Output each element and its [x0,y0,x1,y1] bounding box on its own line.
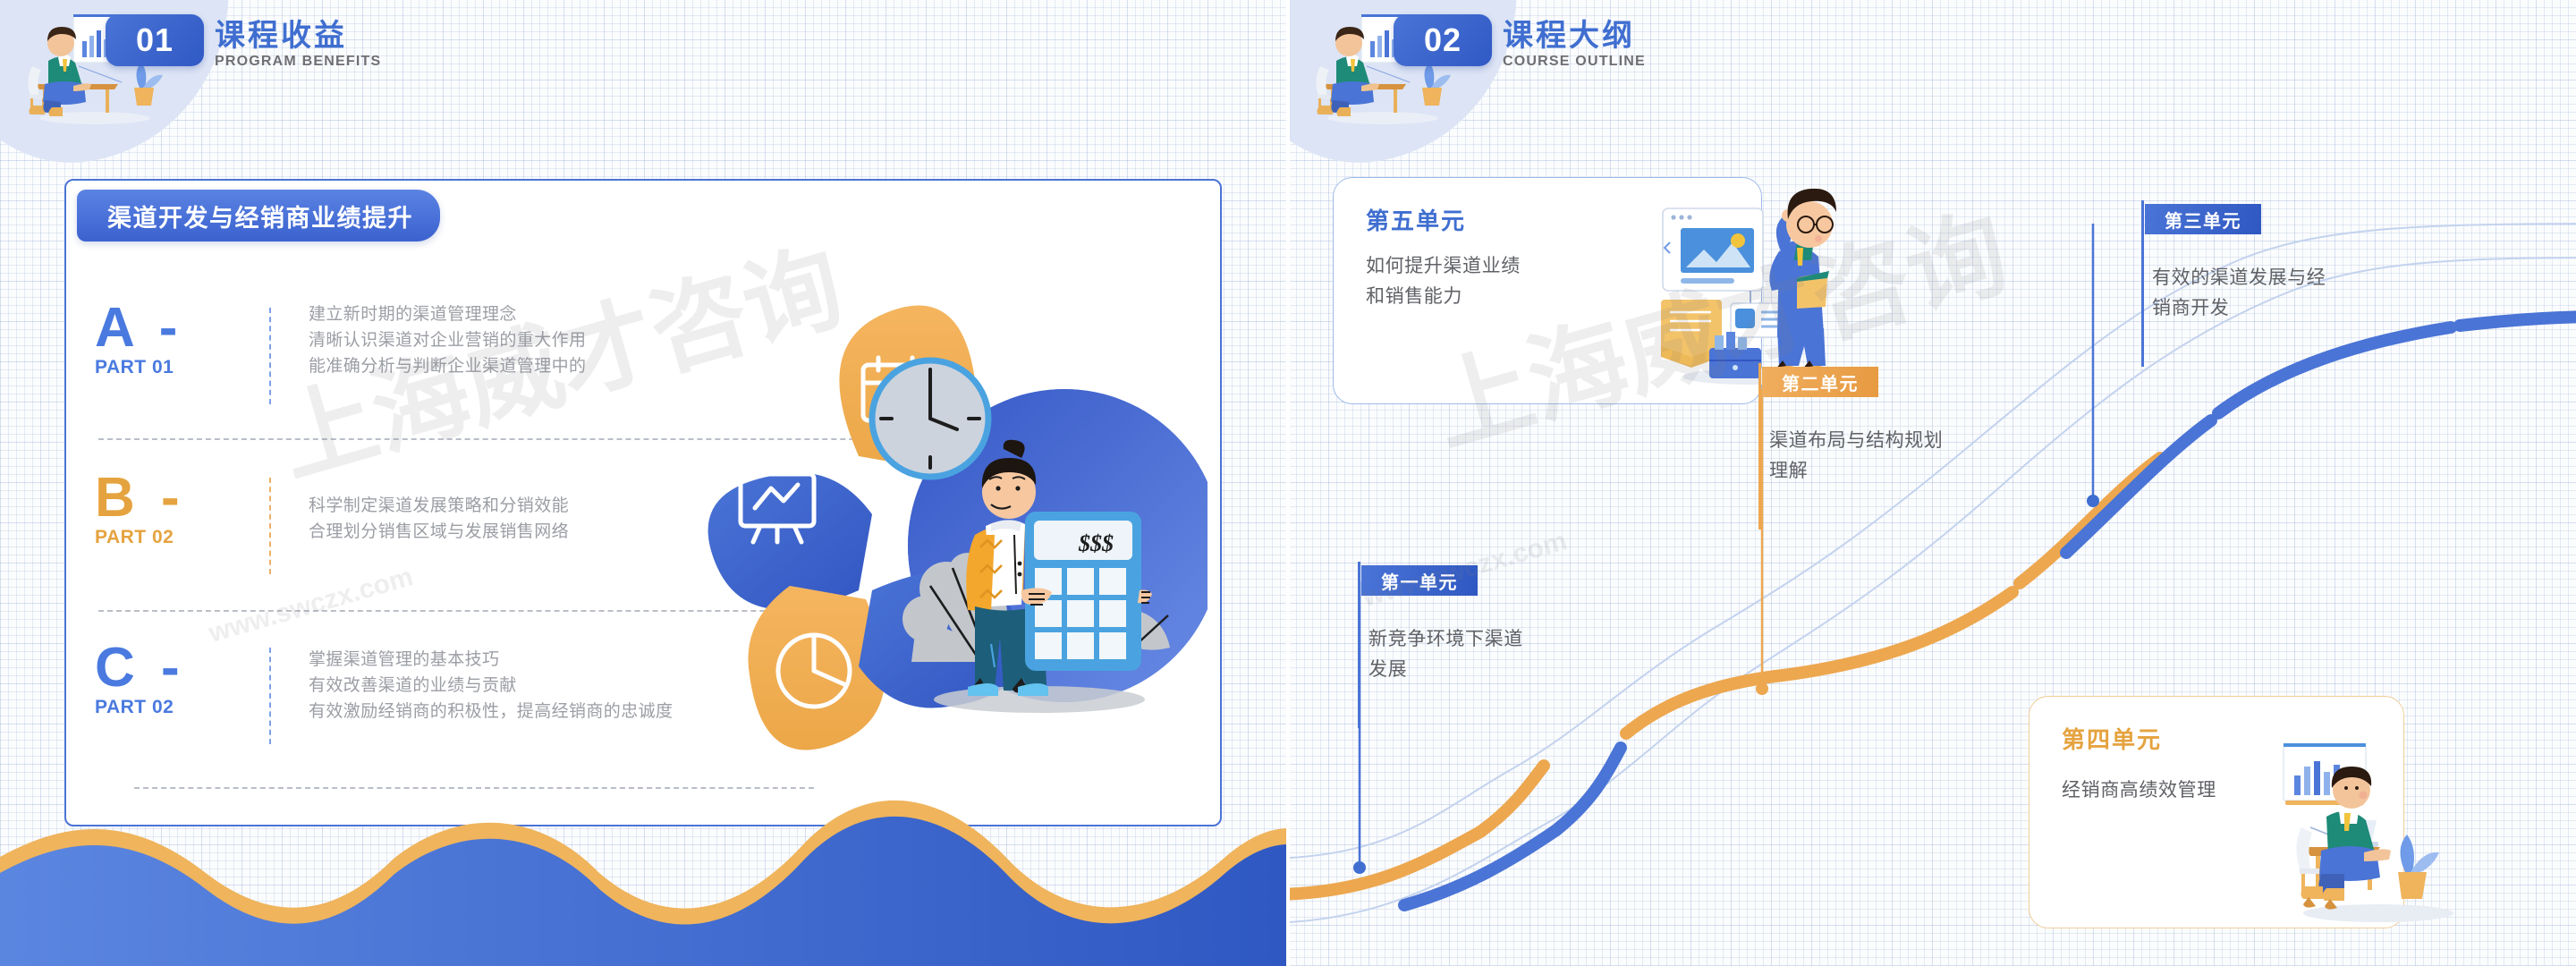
benefit-line: 能准确分析与判断企业渠道管理中的 [309,354,586,379]
panel-divider [1286,0,1290,966]
unit-card-3-desc: 有效的渠道发展与经 销商开发 [2152,263,2465,324]
unit-desc-line: 有效的渠道发展与经 [2152,263,2465,293]
benefit-part-a-letter: A - [95,302,269,353]
benefit-line: 合理划分销售区域与发展销售网络 [309,520,569,546]
unit-card-2-bar [1758,363,1761,530]
unit-desc-line: 发展 [1368,655,1673,685]
benefit-part-c-label: PART 02 [95,697,269,718]
unit-desc-line: 理解 [1769,456,2073,487]
benefit-part-b-divider [269,478,271,574]
page-title-en: COURSE OUTLINE [1503,54,1646,70]
benefit-part-a: A - PART 01 建立新时期的渠道管理理念 清晰认识渠道对企业营销的重大作… [70,302,812,410]
benefit-part-b-body: 科学制定渠道发展策略和分销效能 合理划分销售区域与发展销售网络 [309,494,569,546]
benefit-part-c-body: 掌握渠道管理的基本技巧 有效改善渠道的业绩与贡献 有效激励经销商的积极性，提高经… [309,648,673,725]
benefit-line: 建立新时期的渠道管理理念 [309,302,586,328]
benefit-part-b-label: PART 02 [95,527,269,548]
left-panel-program-benefits: 01 课程收益 PROGRAM BENEFITS 渠道开发与经销商业绩提升 A … [0,0,1288,966]
right-panel-course-outline: 02 课程大纲 COURSE OUTLINE [1288,0,2576,966]
benefits-card-title-banner: 渠道开发与经销商业绩提升 [77,190,440,241]
benefit-part-b-letter: B - [95,472,269,523]
bottom-wave-decoration [0,787,1288,966]
unit-card-2-desc: 渠道布局与结构规划 理解 [1769,426,2073,487]
unit-card-3-tag: 第三单元 [2145,204,2261,234]
unit-card-1[interactable]: 第一单元 新竞争环境下渠道 发展 [1361,565,1719,685]
benefit-part-a-label: PART 01 [95,357,269,378]
unit-card-3[interactable]: 第三单元 有效的渠道发展与经 销商开发 [2145,204,2521,324]
person-presenting-screen-illustration [1656,169,1843,393]
benefit-part-a-key: A - PART 01 [70,302,269,378]
unit-card-5-title: 第五单元 [1366,203,1466,236]
right-panel-header: 02 课程大纲 COURSE OUTLINE [1288,0,2576,134]
benefits-card-title-text: 渠道开发与经销商业绩提升 [107,199,413,233]
header-number-badge: 02 [1394,14,1492,66]
unit-card-3-bar [2141,200,2144,367]
unit-desc-line: 如何提升渠道业绩 [1366,251,1598,282]
svg-text:$$$: $$$ [1078,530,1114,556]
benefit-part-c: C - PART 02 掌握渠道管理的基本技巧 有效改善渠道的业绩与贡献 有效激… [70,642,857,750]
unit-desc-line: 和销售能力 [1366,282,1598,312]
benefit-part-a-divider [269,308,271,404]
unit-card-5[interactable]: 第五单元 如何提升渠道业绩 和销售能力 [1333,177,1762,404]
benefit-part-a-body: 建立新时期的渠道管理理念 清晰认识渠道对企业营销的重大作用 能准确分析与判断企业… [309,302,586,379]
benefit-line: 科学制定渠道发展策略和分销效能 [309,494,569,520]
page-title-en: PROGRAM BENEFITS [215,54,381,70]
page-title-cn: 课程收益 [215,11,347,55]
benefit-part-c-divider [269,648,271,744]
benefit-line: 掌握渠道管理的基本技巧 [309,648,673,674]
benefit-part-c-letter: C - [95,642,269,693]
benefit-line: 清晰认识渠道对企业营销的重大作用 [309,328,586,354]
slide-canvas: 01 课程收益 PROGRAM BENEFITS 渠道开发与经销商业绩提升 A … [0,0,2576,966]
unit-card-2-tag: 第二单元 [1762,367,1878,397]
unit-card-1-desc: 新竞争环境下渠道 发展 [1368,624,1673,685]
benefit-line: 有效改善渠道的业绩与贡献 [309,674,673,699]
unit-card-1-bar [1358,562,1360,728]
benefit-part-b-key: B - PART 02 [70,472,269,548]
unit-card-2[interactable]: 第二单元 渠道布局与结构规划 理解 [1762,367,2120,487]
unit-card-4-title: 第四单元 [2062,722,2162,755]
unit-card-4[interactable]: 第四单元 经销商高绩效管理 [2029,696,2404,928]
unit-card-1-tag: 第一单元 [1361,565,1478,596]
unit-desc-line: 渠道布局与结构规划 [1769,426,2073,456]
page-title-cn: 课程大纲 [1503,11,1635,55]
unit-desc-line: 新竞争环境下渠道 [1368,624,1673,655]
unit-card-5-desc: 如何提升渠道业绩 和销售能力 [1366,251,1598,312]
benefit-part-b: B - PART 02 科学制定渠道发展策略和分销效能 合理划分销售区域与发展销… [70,472,812,580]
benefit-part-c-key: C - PART 02 [70,642,269,718]
unit-desc-line: 销商开发 [2152,293,2465,324]
left-panel-header: 01 课程收益 PROGRAM BENEFITS [0,0,1288,134]
header-number-badge: 01 [106,14,204,66]
benefit-line: 有效激励经销商的积极性，提高经销商的忠诚度 [309,699,673,725]
person-typing-with-bar-chart-illustration [2275,738,2473,928]
